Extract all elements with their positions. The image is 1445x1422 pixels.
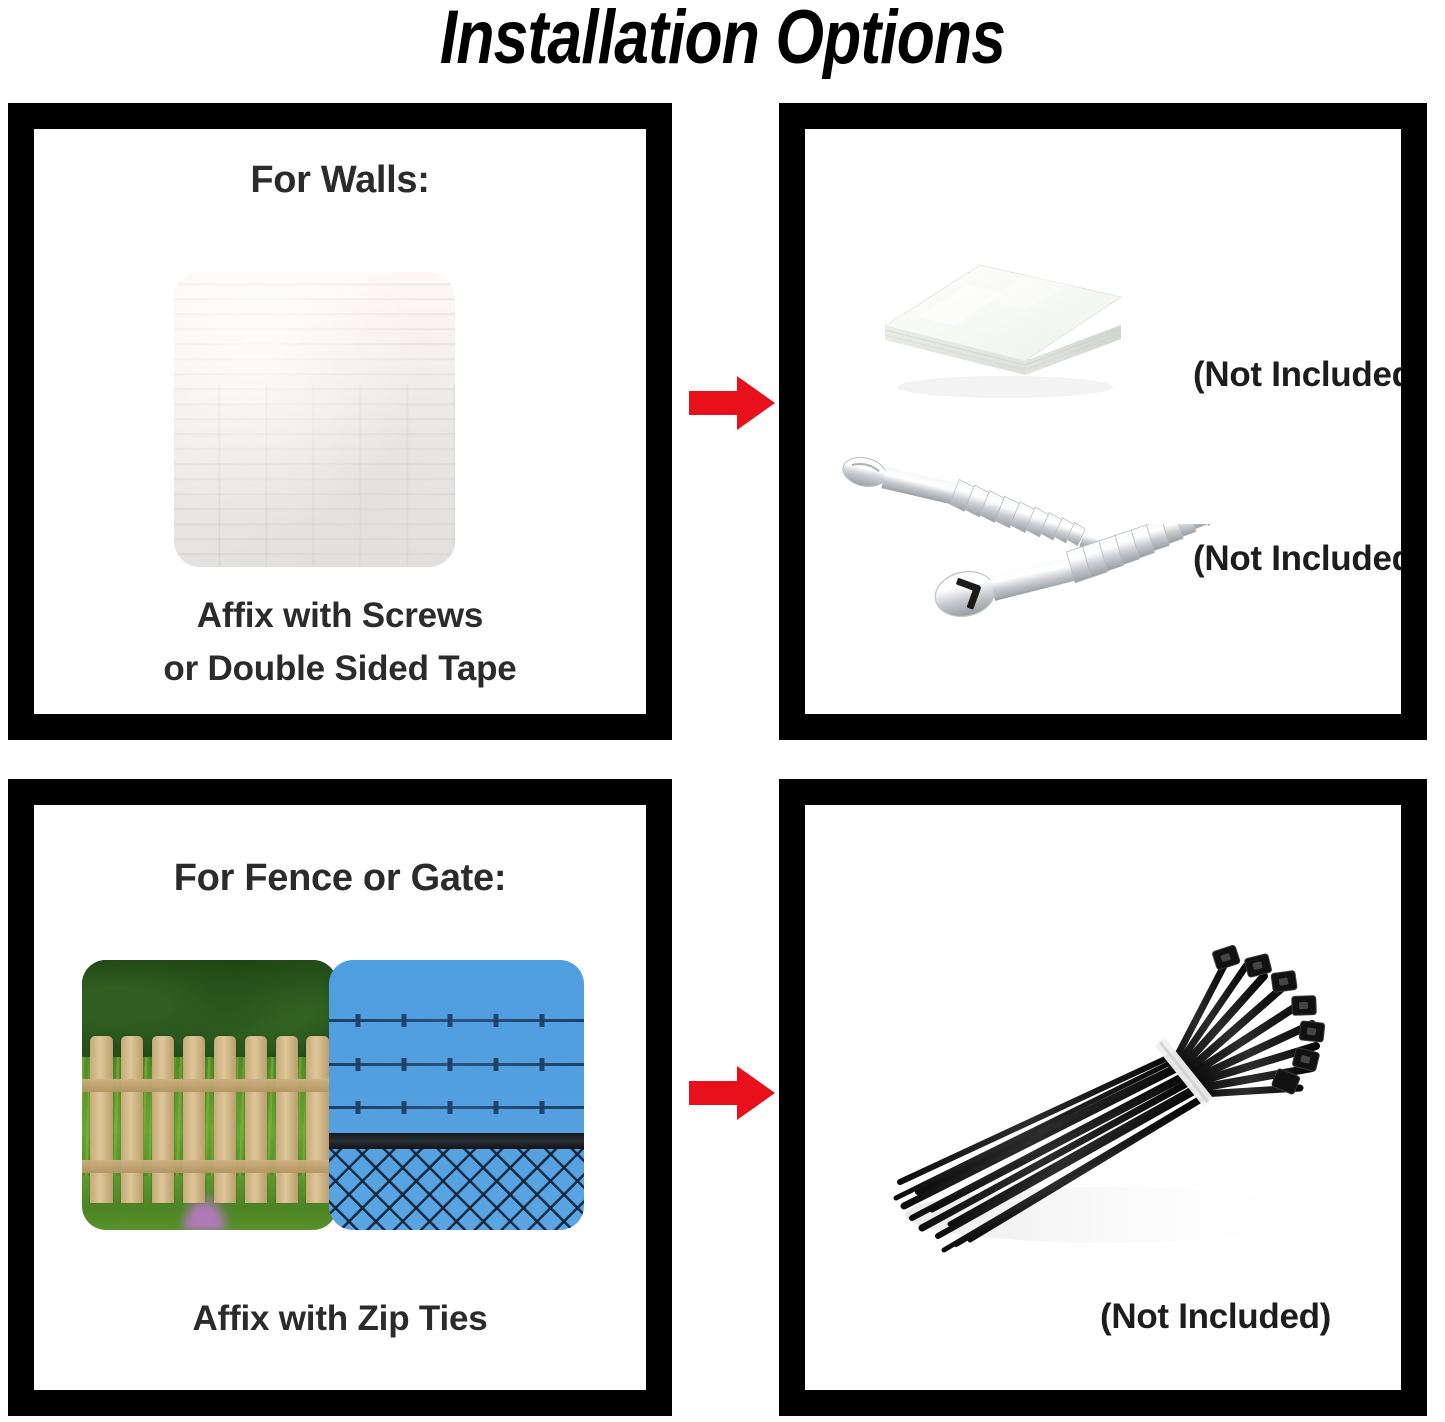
picket-slat <box>121 1036 143 1203</box>
picket-slats <box>82 1036 337 1203</box>
picket-rail-upper <box>82 1079 337 1093</box>
red-right-arrow-icon <box>689 1066 775 1120</box>
panel-for-walls: For Walls: Affix with Screws or Double S… <box>8 103 672 740</box>
barbed-wire-strand <box>329 1063 584 1066</box>
barbed-wire-strand <box>329 1019 584 1022</box>
picket-slat <box>276 1036 298 1203</box>
panel-for-walls-content: For Walls: Affix with Screws or Double S… <box>34 129 646 714</box>
label-screws-not-included: (Not Included) <box>1193 539 1401 579</box>
white-brick-wall-image <box>174 272 455 567</box>
heading-for-walls: For Walls: <box>34 159 646 202</box>
caption-or-double-sided-tape: or Double Sided Tape <box>34 649 646 689</box>
panel-fence-hardware-content: (Not Included) <box>805 805 1401 1390</box>
heading-for-fence-or-gate: For Fence or Gate: <box>34 857 646 900</box>
page-title: Installation Options <box>130 0 1315 81</box>
picket-fence-image <box>82 960 337 1230</box>
caption-affix-with-screws: Affix with Screws <box>34 596 646 636</box>
panel-fence-hardware: (Not Included) <box>779 779 1427 1416</box>
picket-slat <box>214 1036 236 1203</box>
chain-link-fence-image <box>329 960 584 1230</box>
panel-wall-hardware-content: (Not Included) <box>805 129 1401 714</box>
panel-for-fence-content: For Fence or Gate: <box>34 805 646 1390</box>
picket-slat <box>152 1036 174 1203</box>
panel-wall-hardware: (Not Included) <box>779 103 1427 740</box>
brick-shading-overlay <box>174 272 455 567</box>
picket-slat <box>90 1036 112 1203</box>
label-tape-not-included: (Not Included) <box>1193 355 1401 395</box>
zip-tie-bundle-image <box>860 910 1330 1280</box>
label-zip-ties-not-included: (Not Included) <box>1100 1297 1331 1337</box>
panel-for-fence-or-gate: For Fence or Gate: <box>8 779 672 1416</box>
picket-slat <box>306 1036 328 1203</box>
caption-affix-with-zip-ties: Affix with Zip Ties <box>34 1299 646 1339</box>
picket-rail-lower <box>82 1160 337 1174</box>
barbed-wire-strand <box>329 1106 584 1109</box>
red-right-arrow-icon <box>689 376 775 430</box>
fence-top-rail <box>329 1133 584 1149</box>
double-sided-tape-image <box>875 247 1125 403</box>
picket-slat <box>183 1036 205 1203</box>
chain-link-mesh <box>329 1149 584 1230</box>
picket-slat <box>245 1036 267 1203</box>
